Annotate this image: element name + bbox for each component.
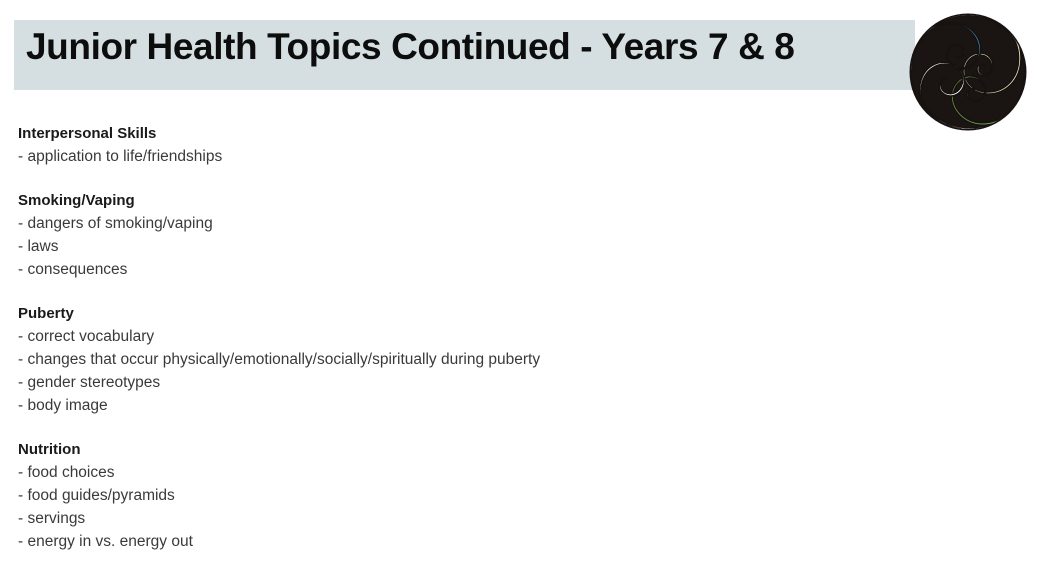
topic-block-smoking-vaping: Smoking/Vaping - dangers of smoking/vapi…: [18, 189, 918, 281]
topic-heading: Interpersonal Skills: [18, 122, 918, 145]
topic-item: - food choices: [18, 461, 918, 484]
topic-item: - consequences: [18, 258, 918, 281]
topic-block-interpersonal-skills: Interpersonal Skills - application to li…: [18, 122, 918, 168]
topic-item: - dangers of smoking/vaping: [18, 212, 918, 235]
topic-item: - laws: [18, 235, 918, 258]
topic-item: - servings: [18, 507, 918, 530]
maori-koru-logo: [903, 8, 1033, 134]
topic-item: - food guides/pyramids: [18, 484, 918, 507]
page-title: Junior Health Topics Continued - Years 7…: [26, 28, 794, 65]
topic-item: - correct vocabulary: [18, 325, 918, 348]
topic-heading: Puberty: [18, 302, 918, 325]
topic-item: - changes that occur physically/emotiona…: [18, 348, 918, 371]
topics-list: Interpersonal Skills - application to li…: [18, 122, 918, 553]
topic-item: - energy in vs. energy out: [18, 530, 918, 553]
topic-item: - application to life/friendships: [18, 145, 918, 168]
topic-block-puberty: Puberty - correct vocabulary - changes t…: [18, 302, 918, 417]
topic-block-nutrition: Nutrition - food choices - food guides/p…: [18, 438, 918, 553]
topic-item: - gender stereotypes: [18, 371, 918, 394]
topic-item: - body image: [18, 394, 918, 417]
topic-heading: Smoking/Vaping: [18, 189, 918, 212]
topic-heading: Nutrition: [18, 438, 918, 461]
